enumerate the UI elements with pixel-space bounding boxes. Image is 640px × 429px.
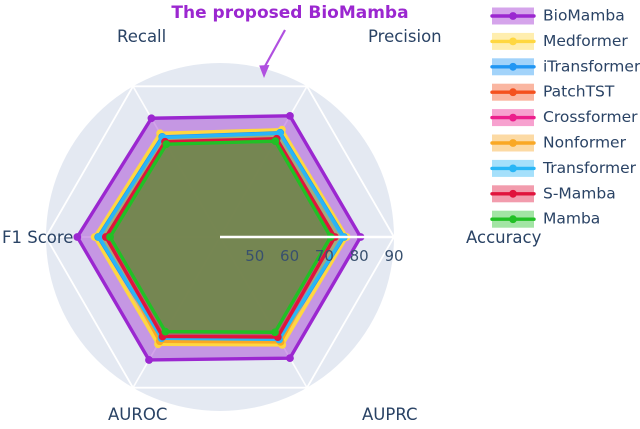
axis-label-auprc: AUPRC (362, 405, 417, 424)
radial-tick-50: 50 (245, 247, 264, 265)
legend-marker-dot (509, 38, 517, 46)
axis-label-accuracy: Accuracy (466, 228, 542, 247)
legend-item-nonformer[interactable]: Nonformer (492, 134, 627, 152)
legend-marker-dot (509, 190, 517, 198)
legend-marker-dot (509, 12, 517, 20)
legend-label: BioMamba (543, 7, 625, 25)
legend-item-biomamba[interactable]: BioMamba (492, 7, 625, 25)
radar-chart-figure: 5060708090 Accuracy Precision Recall F1 … (0, 0, 640, 429)
radial-tick-80: 80 (350, 247, 369, 265)
radial-tick-60: 60 (280, 247, 299, 265)
legend-label: Mamba (543, 210, 600, 228)
legend-label: PatchTST (543, 83, 615, 101)
legend-item-s-mamba[interactable]: S-Mamba (492, 184, 616, 202)
legend-item-mamba[interactable]: Mamba (492, 210, 600, 228)
legend-label: Crossformer (543, 108, 638, 126)
legend-marker-dot (509, 63, 517, 71)
legend-item-transformer[interactable]: Transformer (492, 159, 637, 177)
legend-item-medformer[interactable]: Medformer (492, 32, 628, 50)
legend-item-crossformer[interactable]: Crossformer (492, 108, 638, 126)
axis-label-recall: Recall (117, 27, 166, 46)
legend-label: Transformer (542, 159, 637, 177)
legend-item-patchtst[interactable]: PatchTST (492, 83, 615, 101)
legend-marker-dot (509, 88, 517, 96)
radar-chart-svg: 5060708090 Accuracy Precision Recall F1 … (0, 0, 640, 429)
radial-tick-70: 70 (315, 247, 334, 265)
radial-tick-90: 90 (384, 247, 403, 265)
annotation-text: The proposed BioMamba (171, 3, 408, 23)
legend-label: iTransformer (543, 57, 640, 75)
axis-label-auroc: AUROC (108, 405, 167, 424)
legend-label: S-Mamba (543, 184, 616, 202)
axis-label-precision: Precision (368, 27, 442, 46)
legend-marker-dot (509, 139, 517, 147)
legend-label: Nonformer (543, 134, 627, 152)
legend-marker-dot (509, 215, 517, 223)
legend-marker-dot (509, 114, 517, 122)
legend-item-itransformer[interactable]: iTransformer (492, 57, 640, 75)
legend-label: Medformer (543, 32, 628, 50)
axis-label-f1-score: F1 Score (2, 228, 73, 247)
legend-marker-dot (509, 165, 517, 173)
